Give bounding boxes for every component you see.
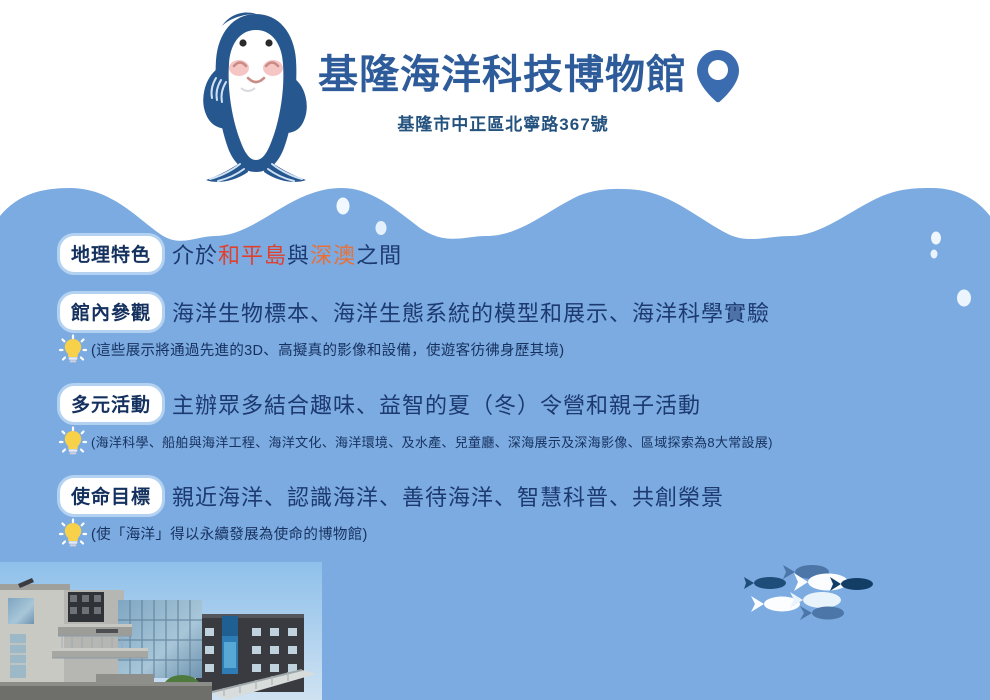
fish: [744, 577, 786, 589]
section-row-geography: 地理特色 介於和平島與深澳之間: [0, 236, 990, 272]
location-pin-icon: [695, 48, 741, 104]
section-row-mission: 使命目標 親近海洋、認識海洋、善待海洋、智慧科普、共創榮景: [0, 478, 990, 514]
bubble: [376, 221, 387, 235]
poster-canvas: 基隆海洋科技博物館 基隆市中正區北寧路367號 地理特色 介於和平島與深澳之間 …: [0, 0, 990, 700]
section-text-geography: 介於和平島與深澳之間: [172, 238, 402, 270]
section-row-activities: 多元活動 主辦眾多結合趣味、益智的夏（冬）令營和親子活動: [0, 386, 990, 422]
museum-address: 基隆市中正區北寧路367號: [318, 110, 688, 135]
section-note-exhibits: (這些展示將通過先進的3D、高擬真的影像和設備，使遊客彷彿身歷其境): [0, 334, 990, 364]
badge-mission[interactable]: 使命目標: [60, 478, 162, 514]
badge-exhibits[interactable]: 館內參觀: [60, 294, 162, 330]
note-text-exhibits: (這些展示將通過先進的3D、高擬真的影像和設備，使遊客彷彿身歷其境): [91, 339, 564, 360]
highlight-heping-island: 和平島: [218, 243, 287, 268]
highlight-shenao: 深澳: [310, 243, 356, 268]
note-text-mission: (使「海洋」得以永續發展為使命的博物館): [91, 523, 368, 544]
lightbulb-icon: [58, 334, 88, 364]
poster-header: 基隆海洋科技博物館 基隆市中正區北寧路367號: [0, 0, 990, 180]
text-middle: 與: [287, 243, 310, 268]
lightbulb-icon: [58, 518, 88, 548]
bubble: [337, 198, 350, 215]
section-note-mission: (使「海洋」得以永續發展為使命的博物館): [0, 518, 990, 548]
museum-building-photo: [0, 562, 322, 700]
lightbulb-icon: [58, 426, 88, 456]
shark-mascot-icon: [186, 8, 326, 188]
section-text-activities: 主辦眾多結合趣味、益智的夏（冬）令營和親子活動: [172, 388, 701, 420]
title-block: 基隆海洋科技博物館 基隆市中正區北寧路367號: [318, 46, 738, 135]
badge-activities[interactable]: 多元活動: [60, 386, 162, 422]
fish-school-icon: [740, 560, 940, 650]
fish: [800, 606, 844, 620]
note-text-activities: (海洋科學、船舶與海洋工程、海洋文化、海洋環境、及水產、兒童廳、深海展示及深海影…: [91, 432, 773, 451]
section-row-exhibits: 館內參觀 海洋生物標本、海洋生態系統的模型和展示、海洋科學實驗: [0, 294, 990, 330]
page-title: 基隆海洋科技博物館: [318, 54, 687, 96]
content-list: 地理特色 介於和平島與深澳之間 館內參觀 海洋生物標本、海洋生態系統的模型和展示…: [0, 236, 990, 548]
text-prefix: 介於: [172, 243, 218, 268]
section-note-activities: (海洋科學、船舶與海洋工程、海洋文化、海洋環境、及水產、兒童廳、深海展示及深海影…: [0, 426, 990, 456]
section-text-exhibits: 海洋生物標本、海洋生態系統的模型和展示、海洋科學實驗: [172, 296, 770, 328]
section-text-mission: 親近海洋、認識海洋、善待海洋、智慧科普、共創榮景: [172, 480, 724, 512]
text-suffix: 之間: [356, 243, 402, 268]
badge-geography[interactable]: 地理特色: [60, 236, 162, 272]
